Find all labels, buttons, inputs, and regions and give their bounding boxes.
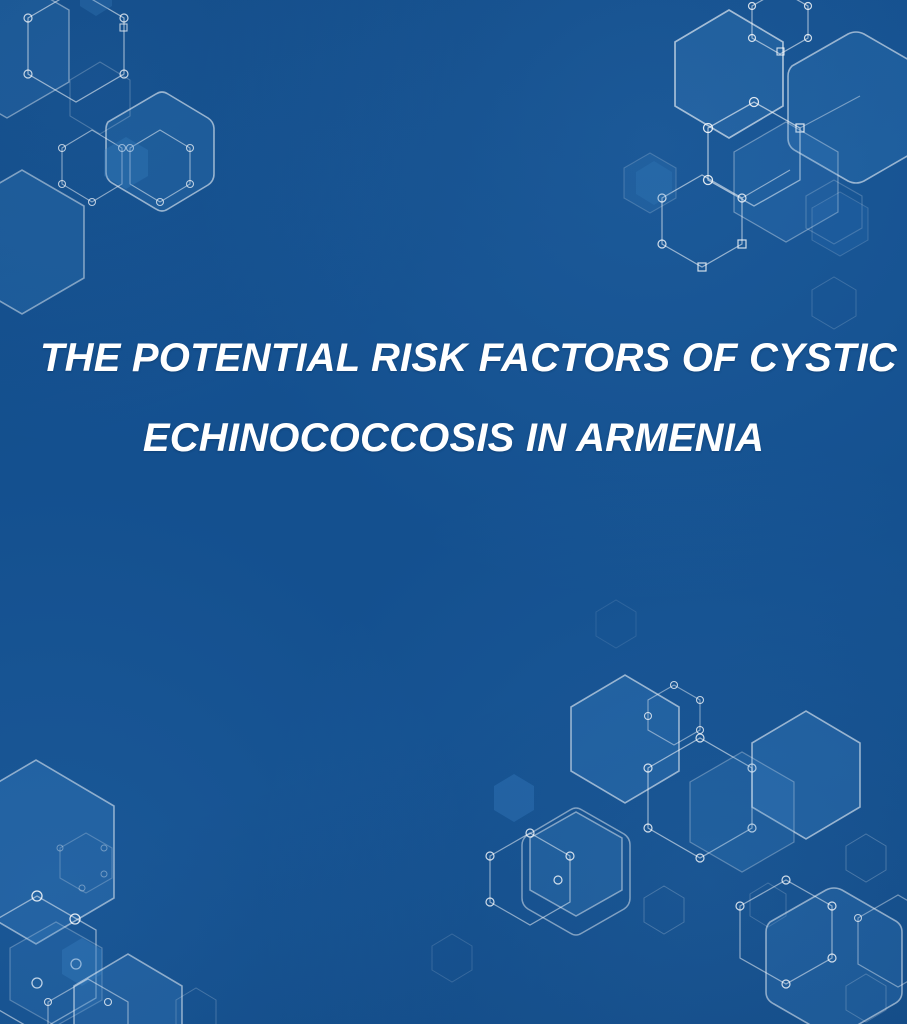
- hexagon-outline: [432, 934, 472, 982]
- node-circle-icon: [704, 176, 713, 185]
- node-circle-icon: [749, 35, 756, 42]
- node-circle-icon: [79, 885, 85, 891]
- node-circle-icon: [697, 727, 704, 734]
- node-circle-icon: [32, 891, 42, 901]
- node-square-icon: [120, 24, 127, 31]
- hexagon-outline: [812, 192, 868, 256]
- node-circle-icon: [566, 852, 574, 860]
- node-circle-icon: [644, 764, 652, 772]
- node-circle-icon: [805, 35, 812, 42]
- node-circle-icon: [120, 70, 128, 78]
- node-circle-icon: [187, 181, 194, 188]
- hexagon-outline: [0, 896, 96, 1024]
- hexagon-outline: [734, 122, 838, 242]
- node-circle-icon: [738, 194, 746, 202]
- node-circle-icon: [32, 978, 42, 988]
- node-circle-icon: [105, 999, 112, 1006]
- hexagon-solid: [62, 938, 102, 986]
- hexagon-outline: [846, 974, 886, 1022]
- node-circle-icon: [554, 876, 562, 884]
- hexagon-outline: [788, 32, 907, 183]
- hexagon-outline: [530, 812, 622, 916]
- node-circle-icon: [120, 14, 128, 22]
- hexagon-outline: [0, 170, 84, 314]
- hexagon-outline: [766, 888, 902, 1024]
- hexagon-outline: [0, 0, 69, 118]
- node-circle-icon: [526, 829, 534, 837]
- node-circle-icon: [70, 914, 80, 924]
- page-title: THE POTENTIAL RISK FACTORS OF CYSTIC ECH…: [0, 318, 907, 478]
- node-square-icon: [777, 48, 784, 55]
- node-circle-icon: [671, 682, 678, 689]
- node-circle-icon: [748, 824, 756, 832]
- hexagon-outline: [62, 130, 122, 202]
- hexagon-outline: [858, 895, 907, 987]
- background-sheen: [0, 0, 907, 1024]
- node-circle-icon: [748, 764, 756, 772]
- node-circle-icon: [119, 145, 126, 152]
- node-circle-icon: [749, 3, 756, 10]
- title-line-1: THE POTENTIAL RISK FACTORS OF CYSTIC: [40, 318, 867, 398]
- hexagon-outline: [752, 0, 808, 54]
- hexagon-outline: [10, 922, 102, 1024]
- node-circle-icon: [750, 98, 759, 107]
- hexagon-outline: [48, 979, 128, 1024]
- hexagon-outline: [74, 954, 182, 1024]
- hexagon-outline: [740, 880, 832, 984]
- node-circle-icon: [736, 902, 744, 910]
- node-circle-icon: [57, 845, 63, 851]
- hexagon-outline: [624, 153, 676, 213]
- hexagon-outline: [708, 102, 800, 206]
- node-circle-icon: [644, 824, 652, 832]
- hexagon-outline: [60, 833, 112, 893]
- hexagon-outline: [648, 738, 752, 858]
- node-circle-icon: [486, 898, 494, 906]
- node-square-icon: [698, 263, 706, 271]
- node-circle-icon: [24, 70, 32, 78]
- node-circle-icon: [828, 902, 836, 910]
- node-circle-icon: [24, 14, 32, 22]
- node-circle-icon: [89, 199, 96, 206]
- connector-line: [800, 96, 860, 128]
- hexagon-network-decoration: [0, 0, 907, 1024]
- node-square-icon: [796, 124, 804, 132]
- hexagon-outline: [662, 175, 742, 267]
- hexagon-outline: [690, 752, 794, 872]
- hexagon-outline: [176, 988, 216, 1024]
- hexagon-solid: [80, 0, 112, 16]
- hexagon-outline: [0, 760, 114, 944]
- node-circle-icon: [696, 734, 704, 742]
- hexagon-outline: [752, 711, 860, 839]
- top-left-hexagon-cluster: [0, 0, 214, 314]
- node-circle-icon: [486, 852, 494, 860]
- node-circle-icon: [696, 854, 704, 862]
- hexagon-outline: [596, 600, 636, 648]
- node-circle-icon: [828, 954, 836, 962]
- hexagon-outline: [806, 180, 862, 244]
- node-square-icon: [738, 240, 746, 248]
- node-circle-icon: [782, 876, 790, 884]
- connector-line: [742, 170, 790, 198]
- hexagon-outline: [846, 834, 886, 882]
- node-circle-icon: [704, 124, 713, 133]
- title-line-2: ECHINOCOCCOSIS IN ARMENIA: [40, 398, 867, 478]
- node-circle-icon: [805, 3, 812, 10]
- hexagon-outline: [648, 685, 700, 745]
- node-circle-icon: [782, 980, 790, 988]
- sparse-hexagon-accents: [432, 600, 636, 982]
- top-right-hexagon-cluster: [624, 0, 907, 329]
- node-circle-icon: [45, 999, 52, 1006]
- node-circle-icon: [127, 145, 134, 152]
- hexagon-outline: [750, 883, 786, 927]
- hexagon-outline: [644, 886, 684, 934]
- hexagon-outline: [571, 675, 679, 803]
- hexagon-outline: [28, 0, 124, 102]
- node-circle-icon: [855, 915, 862, 922]
- hexagon-outline: [130, 130, 190, 202]
- node-circle-icon: [658, 194, 666, 202]
- node-circle-icon: [101, 871, 107, 877]
- hexagon-outline: [522, 808, 630, 935]
- node-circle-icon: [187, 145, 194, 152]
- node-circle-icon: [658, 240, 666, 248]
- title-slide: THE POTENTIAL RISK FACTORS OF CYSTIC ECH…: [0, 0, 907, 1024]
- bottom-left-hexagon-cluster: [0, 760, 216, 1024]
- node-circle-icon: [59, 145, 66, 152]
- hexagon-solid: [494, 774, 534, 822]
- hexagon-outline: [106, 92, 214, 211]
- node-circle-icon: [157, 199, 164, 206]
- hexagon-outline: [70, 62, 130, 134]
- bottom-right-hexagon-cluster: [486, 675, 907, 1024]
- hexagon-solid: [636, 161, 672, 205]
- hexagon-solid: [104, 137, 148, 189]
- hexagon-outline: [490, 833, 570, 925]
- node-circle-icon: [101, 845, 107, 851]
- node-circle-icon: [71, 959, 81, 969]
- node-circle-icon: [645, 713, 652, 720]
- node-circle-icon: [697, 697, 704, 704]
- node-circle-icon: [59, 181, 66, 188]
- hexagon-outline: [675, 10, 783, 138]
